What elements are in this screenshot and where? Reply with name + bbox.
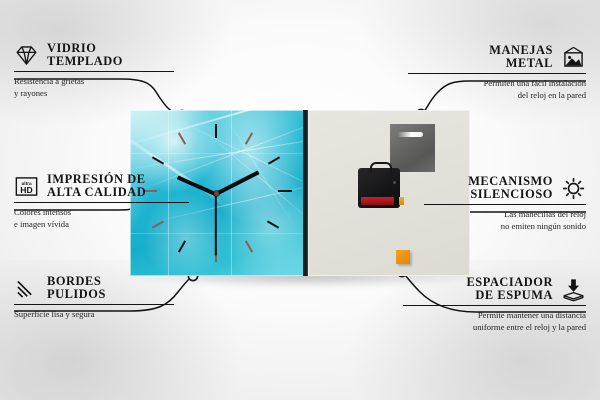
feature-subtitle-line-2: del reloj en la pared xyxy=(408,89,586,101)
tick-4 xyxy=(267,220,279,228)
feature-title-line-2: DE ESPUMA xyxy=(466,289,553,302)
tick-10 xyxy=(152,156,164,164)
feature-title: IMPRESIÓN DE ALTA CALIDAD xyxy=(47,173,146,199)
feature-subtitle-line-2: uniforme entre el reloj y la pared xyxy=(403,321,586,333)
feature-bordes-pulidos[interactable]: BORDES PULIDOS Superficie lisa y segura xyxy=(14,275,174,320)
feature-subtitle-line-2: e imagen vívida xyxy=(14,218,189,230)
feature-subtitle-line-1: Colores intensos xyxy=(14,206,189,218)
feature-subtitle: Permiten una fácil instalación del reloj… xyxy=(408,77,586,101)
foam-spacer xyxy=(396,250,410,264)
tick-7 xyxy=(178,240,186,252)
svg-text:HD: HD xyxy=(20,184,32,194)
feature-mecanismo-silencioso[interactable]: MECANISMO SILENCIOSO Las manecillas del … xyxy=(424,175,586,233)
feature-title-line-2: METAL xyxy=(489,57,553,70)
feature-subtitle: Colores intensos e imagen vívida xyxy=(14,206,189,230)
feature-subtitle-line-2: no emiten ningún sonido xyxy=(424,220,586,232)
feature-manejas-metal[interactable]: MANEJAS METAL Permiten una fácil instala… xyxy=(408,44,586,102)
infographic-canvas: VIDRIO TEMPLADO Resistencia a grietas y … xyxy=(0,0,600,400)
feature-subtitle-line-1: Resistencia a grietas xyxy=(14,75,174,87)
hour-hand xyxy=(215,170,260,196)
polished-edges-icon xyxy=(14,276,39,301)
feature-subtitle: Las manecillas del reloj no emiten ningú… xyxy=(424,208,586,232)
feature-rule xyxy=(408,73,586,74)
feature-subtitle: Superficie lisa y segura xyxy=(14,308,174,320)
feature-subtitle-line-1: Permiten una fácil instalación xyxy=(408,77,586,89)
feature-subtitle-line-1: Las manecillas del reloj xyxy=(424,208,586,220)
feature-subtitle-line-1: Superficie lisa y segura xyxy=(14,308,174,320)
foam-spacer-arrow-icon xyxy=(561,277,586,302)
battery xyxy=(361,197,394,205)
feature-title: ESPACIADOR DE ESPUMA xyxy=(466,276,553,302)
feature-subtitle-line-2: y rayones xyxy=(14,87,174,99)
feature-title: BORDES PULIDOS xyxy=(47,275,106,301)
mechanism-indicator xyxy=(393,181,396,184)
feature-rule xyxy=(14,304,174,305)
feature-rule xyxy=(403,305,586,306)
feature-title: MANEJAS METAL xyxy=(489,44,553,70)
feature-subtitle: Permite mantener una distancia uniforme … xyxy=(403,309,586,333)
feature-title-line-2: ALTA CALIDAD xyxy=(47,186,146,199)
tick-12 xyxy=(215,124,217,138)
feature-rule xyxy=(424,204,586,205)
tick-1 xyxy=(245,132,253,144)
feature-vidrio-templado[interactable]: VIDRIO TEMPLADO Resistencia a grietas y … xyxy=(14,42,174,100)
feature-title-line-2: PULIDOS xyxy=(47,288,106,301)
tick-3 xyxy=(278,190,292,192)
hanger-slot xyxy=(397,132,423,137)
feature-title: VIDRIO TEMPLADO xyxy=(47,42,123,68)
tick-11 xyxy=(178,132,186,144)
feature-rule xyxy=(14,202,189,203)
feature-title-line-2: SILENCIOSO xyxy=(468,188,553,201)
feature-rule xyxy=(14,71,174,72)
gear-icon xyxy=(561,176,586,201)
clock-pivot xyxy=(214,191,219,196)
battery-terminal xyxy=(399,197,404,205)
tick-2 xyxy=(268,156,280,164)
diamond-icon xyxy=(14,43,39,68)
feature-subtitle: Resistencia a grietas y rayones xyxy=(14,75,174,99)
metal-hanger-plate xyxy=(390,124,435,172)
feature-espaciador-de-espuma[interactable]: ESPACIADOR DE ESPUMA Permite mantener un… xyxy=(403,276,586,334)
mechanism-hanging-loop xyxy=(370,162,392,173)
clock-mechanism xyxy=(358,168,400,208)
feature-title: MECANISMO SILENCIOSO xyxy=(468,175,553,201)
feature-title-line-2: TEMPLADO xyxy=(47,55,123,68)
ultra-hd-badge-icon: ultra HD xyxy=(14,174,39,199)
feature-subtitle-line-1: Permite mantener una distancia xyxy=(403,309,586,321)
tick-5 xyxy=(245,240,253,252)
feature-impresion-alta-calidad[interactable]: ultra HD IMPRESIÓN DE ALTA CALIDAD Color… xyxy=(14,173,189,231)
wall-hanging-frame-icon xyxy=(561,45,586,70)
second-hand xyxy=(215,194,217,256)
